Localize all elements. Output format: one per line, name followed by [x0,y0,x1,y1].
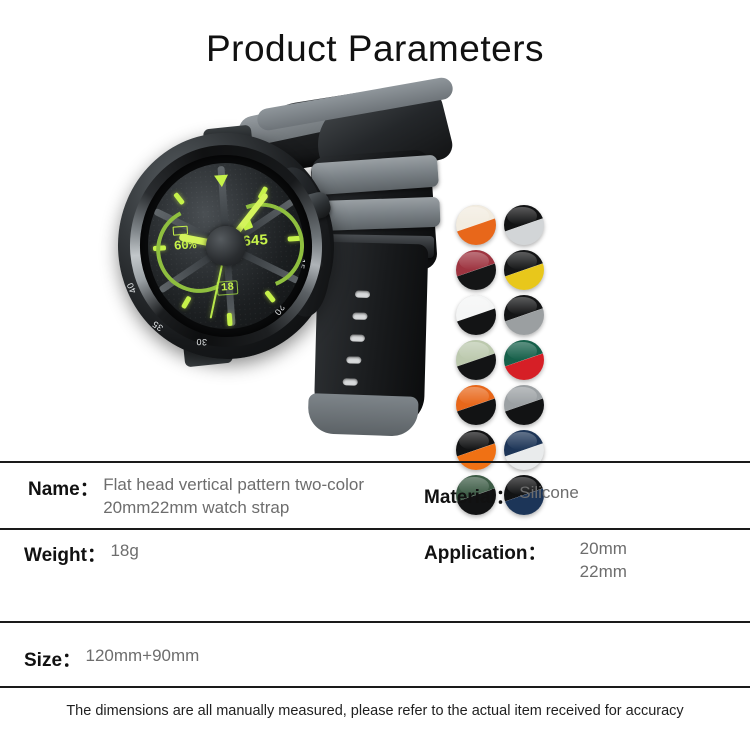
color-swatch-white-black-2[interactable] [456,295,496,335]
spec-value-weight: 18g [110,540,138,563]
spec-value-application: 20mm 22mm [551,538,627,584]
spec-label-application: Application： [424,538,546,565]
color-swatch-green-red[interactable] [504,340,544,380]
divider-line-4 [0,686,750,688]
spec-label-name: Name： [28,474,99,501]
spec-value-material: Silicone [519,482,579,505]
color-swatch-grey-black[interactable] [504,295,544,335]
color-swatch-yellow-black[interactable] [504,250,544,290]
product-hero-image: 10 15 20 30 35 40 [0,95,750,440]
spec-row-application: Application： 20mm 22mm [424,538,627,584]
strap-hole [346,356,361,363]
strap-hole [343,378,358,385]
spec-label-size: Size： [24,645,81,672]
color-swatch-orange-cream[interactable] [456,205,496,245]
spec-label-weight: Weight： [24,540,106,567]
bezel-number-30: 30 [196,337,207,347]
strap-hole [355,291,370,298]
divider-line-1 [0,461,750,463]
strap-hole [352,313,367,320]
divider-line-2 [0,528,750,530]
color-swatch-white-black[interactable] [504,205,544,245]
divider-line-3 [0,621,750,623]
color-swatch-grid [456,205,556,520]
dial-marker-12 [214,175,229,188]
measurement-disclaimer: The dimensions are all manually measured… [0,703,750,719]
smartwatch: 10 15 20 30 35 40 [118,133,334,359]
strap-hole [350,334,365,341]
page-title: Product Parameters [0,28,750,70]
spec-label-material: Material： [424,482,515,509]
spec-row-weight: Weight： 18g [24,540,139,567]
spec-value-name: Flat head vertical pattern two-color 20m… [103,474,393,520]
product-parameters-page: Product Parameters [0,0,750,750]
spec-row-material: Material： Silicone [424,482,579,509]
date-value: 18 [216,280,238,295]
color-swatch-sage-black[interactable] [456,340,496,380]
watch-dial: 60% 7645 18 [142,158,309,334]
color-swatch-orange-black-2[interactable] [456,430,496,470]
spec-row-size: Size： 120mm+90mm [24,645,199,672]
dial-index [227,313,233,326]
color-swatch-navy-white[interactable] [504,430,544,470]
spec-value-size: 120mm+90mm [85,645,199,668]
spec-row-name: Name： Flat head vertical pattern two-col… [28,474,418,520]
color-swatch-orange-black[interactable] [456,385,496,425]
color-swatch-grey-black-2[interactable] [504,385,544,425]
strap-grey-edge-bottom [307,393,418,437]
color-swatch-darkred-black[interactable] [456,250,496,290]
